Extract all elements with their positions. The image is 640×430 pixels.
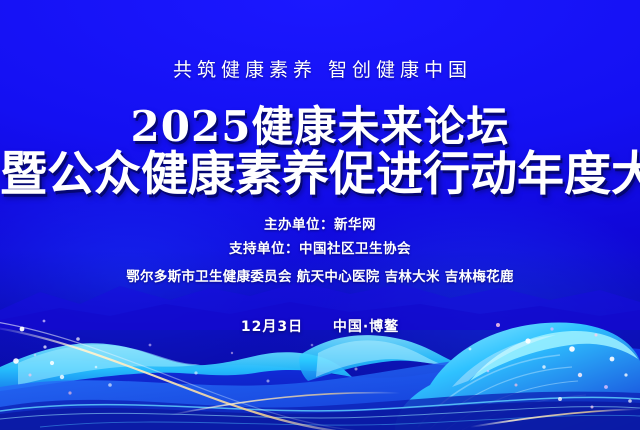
organizer-support: 支持单位：中国社区卫生协会	[0, 240, 640, 258]
event-poster: 共筑健康素养 智创健康中国 2025健康未来论坛 暨公众健康素养促进行动年度大会…	[0, 0, 640, 430]
event-date: 12月3日	[241, 319, 303, 335]
event-datebar: 12月3日 中国·博鳌	[0, 318, 640, 337]
poster-text-content: 共筑健康素养 智创健康中国 2025健康未来论坛 暨公众健康素养促进行动年度大会…	[0, 0, 640, 430]
poster-title-line1: 2025健康未来论坛	[0, 103, 640, 151]
poster-title-line2: 暨公众健康素养促进行动年度大会	[0, 148, 640, 202]
organizer-host: 主办单位：新华网	[0, 216, 640, 234]
organizer-partners: 鄂尔多斯市卫生健康委员会 航天中心医院 吉林大米 吉林梅花鹿	[0, 268, 640, 286]
event-location: 中国·博鳌	[333, 319, 399, 335]
poster-tagline: 共筑健康素养 智创健康中国	[0, 57, 640, 83]
